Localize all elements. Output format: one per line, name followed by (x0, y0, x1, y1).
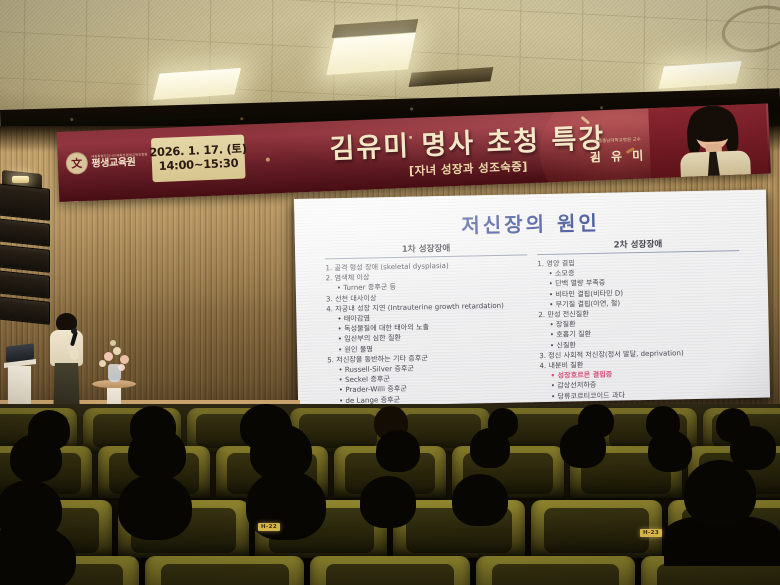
line-array-speaker-stack (0, 186, 56, 325)
slide-column-primary: 1차 성장장애 1. 골격 형성 장애 (skeletal dysplasia)… (325, 240, 531, 407)
flower-icon (104, 352, 113, 361)
speaker-cabinet (0, 296, 50, 325)
ceiling-panel-light-icon (326, 33, 416, 75)
audience-head (376, 430, 420, 472)
audience-head (648, 430, 692, 472)
audience-head (118, 474, 192, 540)
institution-seal-icon: 文 (65, 152, 87, 175)
slide-column-secondary: 2차 성장장애 1. 영양 결핍 • 소모증 • 단백 열량 부족증 • 비타민… (537, 236, 743, 407)
stage-light-icon (12, 176, 29, 183)
seat-row (0, 556, 780, 585)
column-heading: 1차 성장장애 (325, 240, 527, 259)
speaker-cabinet (0, 244, 50, 273)
flower-icon (110, 340, 116, 346)
organization-logo-name: 평생교육원 (91, 157, 148, 169)
speaker-cabinet (0, 270, 50, 299)
flower-icon (99, 360, 106, 367)
organization-logo: 文 세종특별자치시인재육성평생교육진흥원 평생교육원 (65, 142, 148, 181)
audience-seating-area: H-22 H-23 (0, 404, 780, 585)
slide-columns: 1차 성장장애 1. 골격 형성 장애 (skeletal dysplasia)… (325, 236, 743, 407)
audience-head (560, 424, 606, 468)
audience-head (452, 474, 508, 526)
event-date-chip: 2026. 1. 17. (토) 14:00~15:30 (151, 135, 246, 183)
flower-icon (120, 355, 129, 364)
audience-head (360, 476, 416, 528)
column-heading: 2차 성장장애 (537, 236, 739, 255)
audience-head (684, 460, 756, 526)
organization-logo-text: 세종특별자치시인재육성평생교육진흥원 평생교육원 (91, 154, 148, 169)
speaker-cabinet (0, 183, 50, 221)
microphone-head-icon (71, 328, 77, 334)
seat-number-tag: H-22 (258, 523, 280, 531)
flower-vase (108, 364, 121, 382)
seat-number-tag: H-23 (640, 529, 662, 537)
lecture-hall-photo: 文 세종특별자치시인재육성평생교육진흥원 평생교육원 2026. 1. 17. … (0, 0, 780, 585)
speaker-name: 김 유 미 (584, 146, 653, 166)
column-list: 1. 영양 결핍 • 소모증 • 단백 열량 부족증 • 비타민 결핍(비타민 … (537, 255, 743, 407)
projection-screen: 저신장의 원인 1차 성장장애 1. 골격 형성 장애 (skeletal dy… (294, 190, 770, 407)
event-time: 14:00~15:30 (159, 157, 239, 174)
auditorium-seat (476, 556, 635, 585)
auditorium-seat (310, 556, 469, 585)
flower-icon (113, 347, 121, 355)
column-list: 1. 골격 형성 장애 (skeletal dysplasia) 2. 염색체 … (325, 259, 530, 407)
presenter-sweater (50, 330, 83, 366)
audience-head (470, 428, 510, 468)
audience-head (10, 434, 62, 482)
podium-body (8, 366, 31, 406)
speaker-portrait-photo (648, 104, 769, 179)
audience-head (128, 428, 186, 480)
auditorium-seat (145, 556, 304, 585)
speaker-cabinet (0, 218, 50, 247)
portrait-hair (688, 105, 736, 143)
